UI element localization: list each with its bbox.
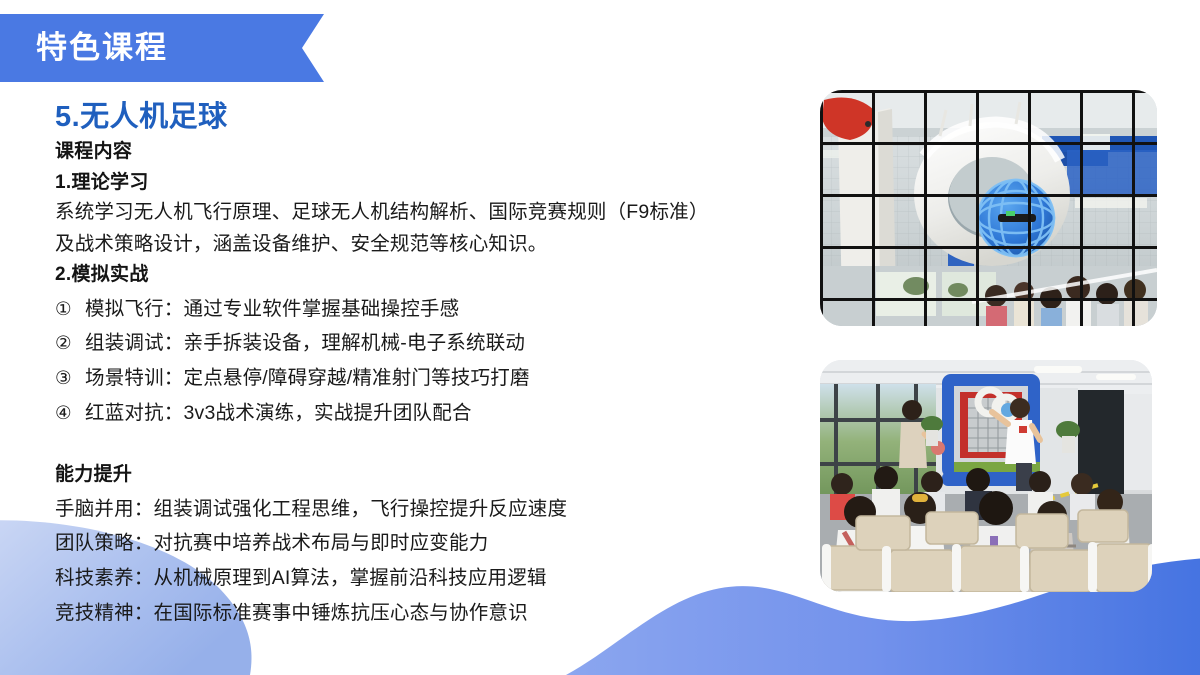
- section-header-title: 特色课程: [36, 14, 168, 82]
- spacer: [55, 431, 815, 461]
- drone-soccer-goal-photo: [820, 90, 1157, 326]
- theory-heading: 1.理论学习: [55, 169, 815, 197]
- practice-heading: 2.模拟实战: [55, 261, 815, 289]
- circled-number-icon: ③: [55, 362, 85, 395]
- practice-list: ① 模拟飞行：通过专业软件掌握基础操控手感 ② 组装调试：亲手拆装设备，理解机械…: [55, 292, 815, 431]
- list-item: ④ 红蓝对抗：3v3战术演练，实战提升团队配合: [55, 396, 815, 431]
- list-item: 团队策略：对抗赛中培养战术布局与即时应变能力: [55, 526, 815, 561]
- list-item-label: 组装调试：亲手拆装设备，理解机械-电子系统联动: [85, 326, 525, 361]
- course-title: 5.无人机足球: [55, 100, 815, 134]
- list-item: 科技素养：从机械原理到AI算法，掌握前沿科技应用逻辑: [55, 561, 815, 596]
- list-item: ② 组装调试：亲手拆装设备，理解机械-电子系统联动: [55, 326, 815, 361]
- ability-heading: 能力提升: [55, 461, 815, 489]
- ability-list: 手脑并用：组装调试强化工程思维，飞行操控提升反应速度 团队策略：对抗赛中培养战术…: [55, 492, 815, 631]
- list-item: ① 模拟飞行：通过专业软件掌握基础操控手感: [55, 292, 815, 327]
- list-item: 竞技精神：在国际标准赛事中锤炼抗压心态与协作意识: [55, 596, 815, 631]
- slide-canvas: 特色课程 5.无人机足球 课程内容 1.理论学习 系统学习无人机飞行原理、足球无…: [0, 0, 1200, 675]
- list-item-label: 红蓝对抗：3v3战术演练，实战提升团队配合: [85, 396, 472, 431]
- drone-goal-illustration: [820, 90, 1157, 326]
- circled-number-icon: ①: [55, 293, 85, 326]
- theory-line-2: 及战术策略设计，涵盖设备维护、安全规范等核心知识。: [55, 229, 815, 261]
- circled-number-icon: ④: [55, 397, 85, 430]
- theory-paragraph: 系统学习无人机飞行原理、足球无人机结构解析、国际竞赛规则（F9标准） 及战术策略…: [55, 197, 815, 260]
- course-content: 5.无人机足球 课程内容 1.理论学习 系统学习无人机飞行原理、足球无人机结构解…: [55, 100, 815, 630]
- theory-line-1: 系统学习无人机飞行原理、足球无人机结构解析、国际竞赛规则（F9标准）: [55, 197, 815, 229]
- section-header-ribbon: 特色课程: [0, 14, 324, 82]
- list-item: 手脑并用：组装调试强化工程思维，飞行操控提升反应速度: [55, 492, 815, 527]
- course-content-heading: 课程内容: [55, 138, 815, 166]
- list-item-label: 模拟飞行：通过专业软件掌握基础操控手感: [85, 292, 459, 327]
- list-item-label: 场景特训：定点悬停/障碍穿越/精准射门等技巧打磨: [85, 361, 530, 396]
- classroom-demo-photo: [820, 360, 1152, 592]
- classroom-illustration: [820, 360, 1152, 592]
- list-item: ③ 场景特训：定点悬停/障碍穿越/精准射门等技巧打磨: [55, 361, 815, 396]
- circled-number-icon: ②: [55, 327, 85, 360]
